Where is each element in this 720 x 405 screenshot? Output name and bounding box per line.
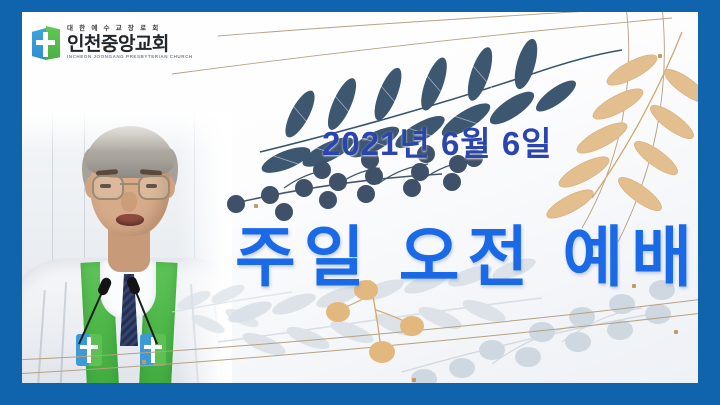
church-logo[interactable]: 대 한 예 수 교 장 로 회 인천중앙교회 INCHEON JOONGANG … xyxy=(32,26,193,60)
emblem-cross-horizontal xyxy=(144,345,162,349)
slide-canvas: 대 한 예 수 교 장 로 회 인천중앙교회 INCHEON JOONGANG … xyxy=(22,12,698,383)
nose xyxy=(121,192,137,212)
emblem-cross-vertical xyxy=(87,337,91,363)
eyeglass-lens-left xyxy=(92,175,124,200)
mouth xyxy=(116,214,144,226)
logo-wordmark: 대 한 예 수 교 장 로 회 인천중앙교회 INCHEON JOONGANG … xyxy=(67,26,193,59)
eyeglass-lens-right xyxy=(138,175,170,200)
speaker-photo xyxy=(22,112,232,383)
service-date: 2021년 6월 6일 xyxy=(322,117,553,165)
tan-leaf-branch-top-right xyxy=(543,32,698,223)
logo-english-name: INCHEON JOONGANG PRESBYTERIAN CHURCH xyxy=(67,55,193,60)
logo-church-name: 인천중앙교회 xyxy=(67,35,193,54)
open-door-cross-icon xyxy=(32,26,60,60)
eyeglass-bridge xyxy=(120,183,138,185)
logo-cross-horizontal xyxy=(36,40,55,45)
photo-right-fade xyxy=(178,112,232,383)
emblem-cross-horizontal xyxy=(80,345,98,349)
service-title: 주일 오전 예배 xyxy=(235,204,698,300)
worship-title-slide: 대 한 예 수 교 장 로 회 인천중앙교회 INCHEON JOONGANG … xyxy=(0,0,720,405)
logo-denomination-line: 대 한 예 수 교 장 로 회 xyxy=(67,26,193,33)
